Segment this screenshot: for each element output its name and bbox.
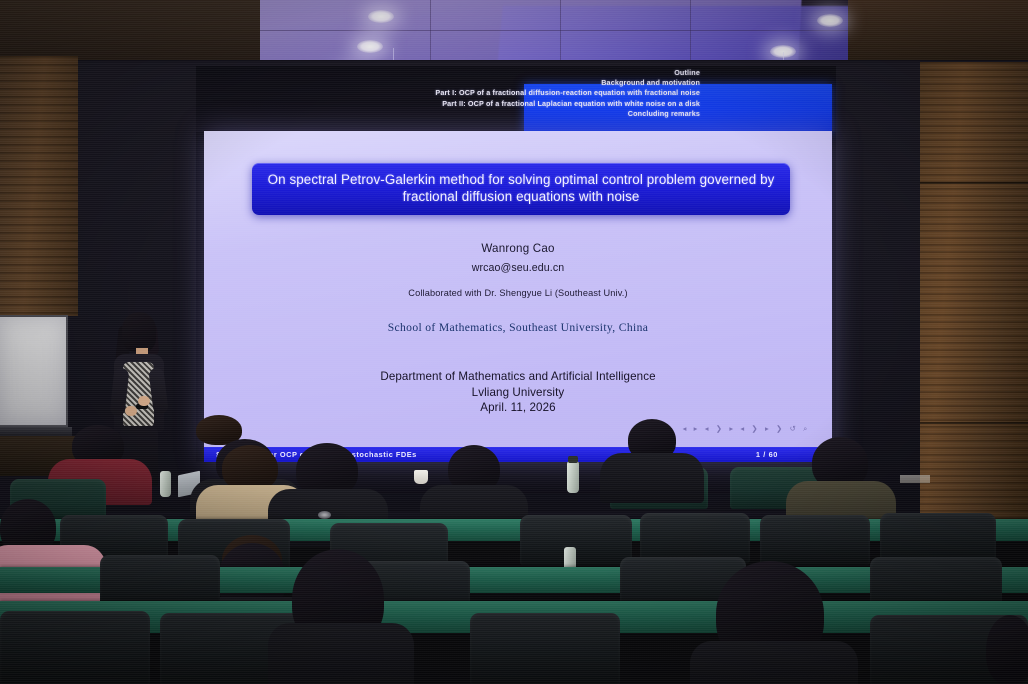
outline-line: Background and motivation bbox=[400, 78, 700, 88]
slide-department: Department of Mathematics and Artificial… bbox=[204, 369, 832, 385]
slide-content: On spectral Petrov-Galerkin method for s… bbox=[204, 131, 832, 462]
outline-line: Part I: OCP of a fractional diffusion-re… bbox=[400, 88, 700, 98]
audience-shoulders bbox=[600, 453, 704, 503]
slide-title: On spectral Petrov-Galerkin method for s… bbox=[252, 172, 790, 205]
wood-seam bbox=[920, 182, 1028, 184]
presenter-hair bbox=[122, 312, 156, 352]
presenter-hand bbox=[138, 396, 150, 406]
slide-title-box: On spectral Petrov-Galerkin method for s… bbox=[252, 163, 790, 215]
slide-affiliation: School of Mathematics, Southeast Univers… bbox=[204, 321, 832, 334]
chair bbox=[520, 515, 632, 565]
presentation-slide: On spectral Petrov-Galerkin method for s… bbox=[204, 131, 832, 462]
papers bbox=[900, 475, 930, 483]
water-bottle bbox=[567, 461, 579, 493]
water-bottle bbox=[160, 471, 171, 497]
whiteboard bbox=[0, 315, 68, 427]
chair bbox=[640, 513, 750, 563]
chair bbox=[470, 613, 620, 684]
slide-author: Wanrong Cao bbox=[204, 242, 832, 255]
ceiling-downlight-icon bbox=[357, 40, 383, 53]
clothing-logo bbox=[318, 511, 331, 519]
outline-line: Outline bbox=[400, 68, 700, 78]
audience-shoulders bbox=[268, 623, 414, 684]
audience-head bbox=[986, 615, 1028, 684]
slide-email: wrcao@seu.edu.cn bbox=[204, 262, 832, 274]
slide-university: Lvliang University bbox=[204, 385, 832, 401]
audience-seating bbox=[0, 415, 1028, 684]
lecture-hall-scene: Outline Background and motivation Part I… bbox=[0, 0, 1028, 684]
chair bbox=[760, 515, 870, 565]
outline-line: Part II: OCP of a fractional Laplacian e… bbox=[400, 99, 700, 109]
chair bbox=[0, 611, 150, 684]
ceiling-downlight-icon bbox=[368, 10, 394, 23]
projection-outline-text: Outline Background and motivation Part I… bbox=[400, 68, 700, 119]
slide-venue: Department of Mathematics and Artificial… bbox=[204, 369, 832, 416]
wood-paneling-left bbox=[0, 56, 78, 316]
bottle-cap bbox=[568, 456, 578, 463]
slide-collaborator: Collaborated with Dr. Shengyue Li (South… bbox=[204, 288, 832, 298]
audience-shoulders bbox=[690, 641, 858, 684]
outline-line: Concluding remarks bbox=[400, 109, 700, 119]
ceiling-downlight-icon bbox=[817, 14, 843, 27]
slide-date: April. 11, 2026 bbox=[204, 400, 832, 416]
paper-cup bbox=[414, 470, 428, 484]
